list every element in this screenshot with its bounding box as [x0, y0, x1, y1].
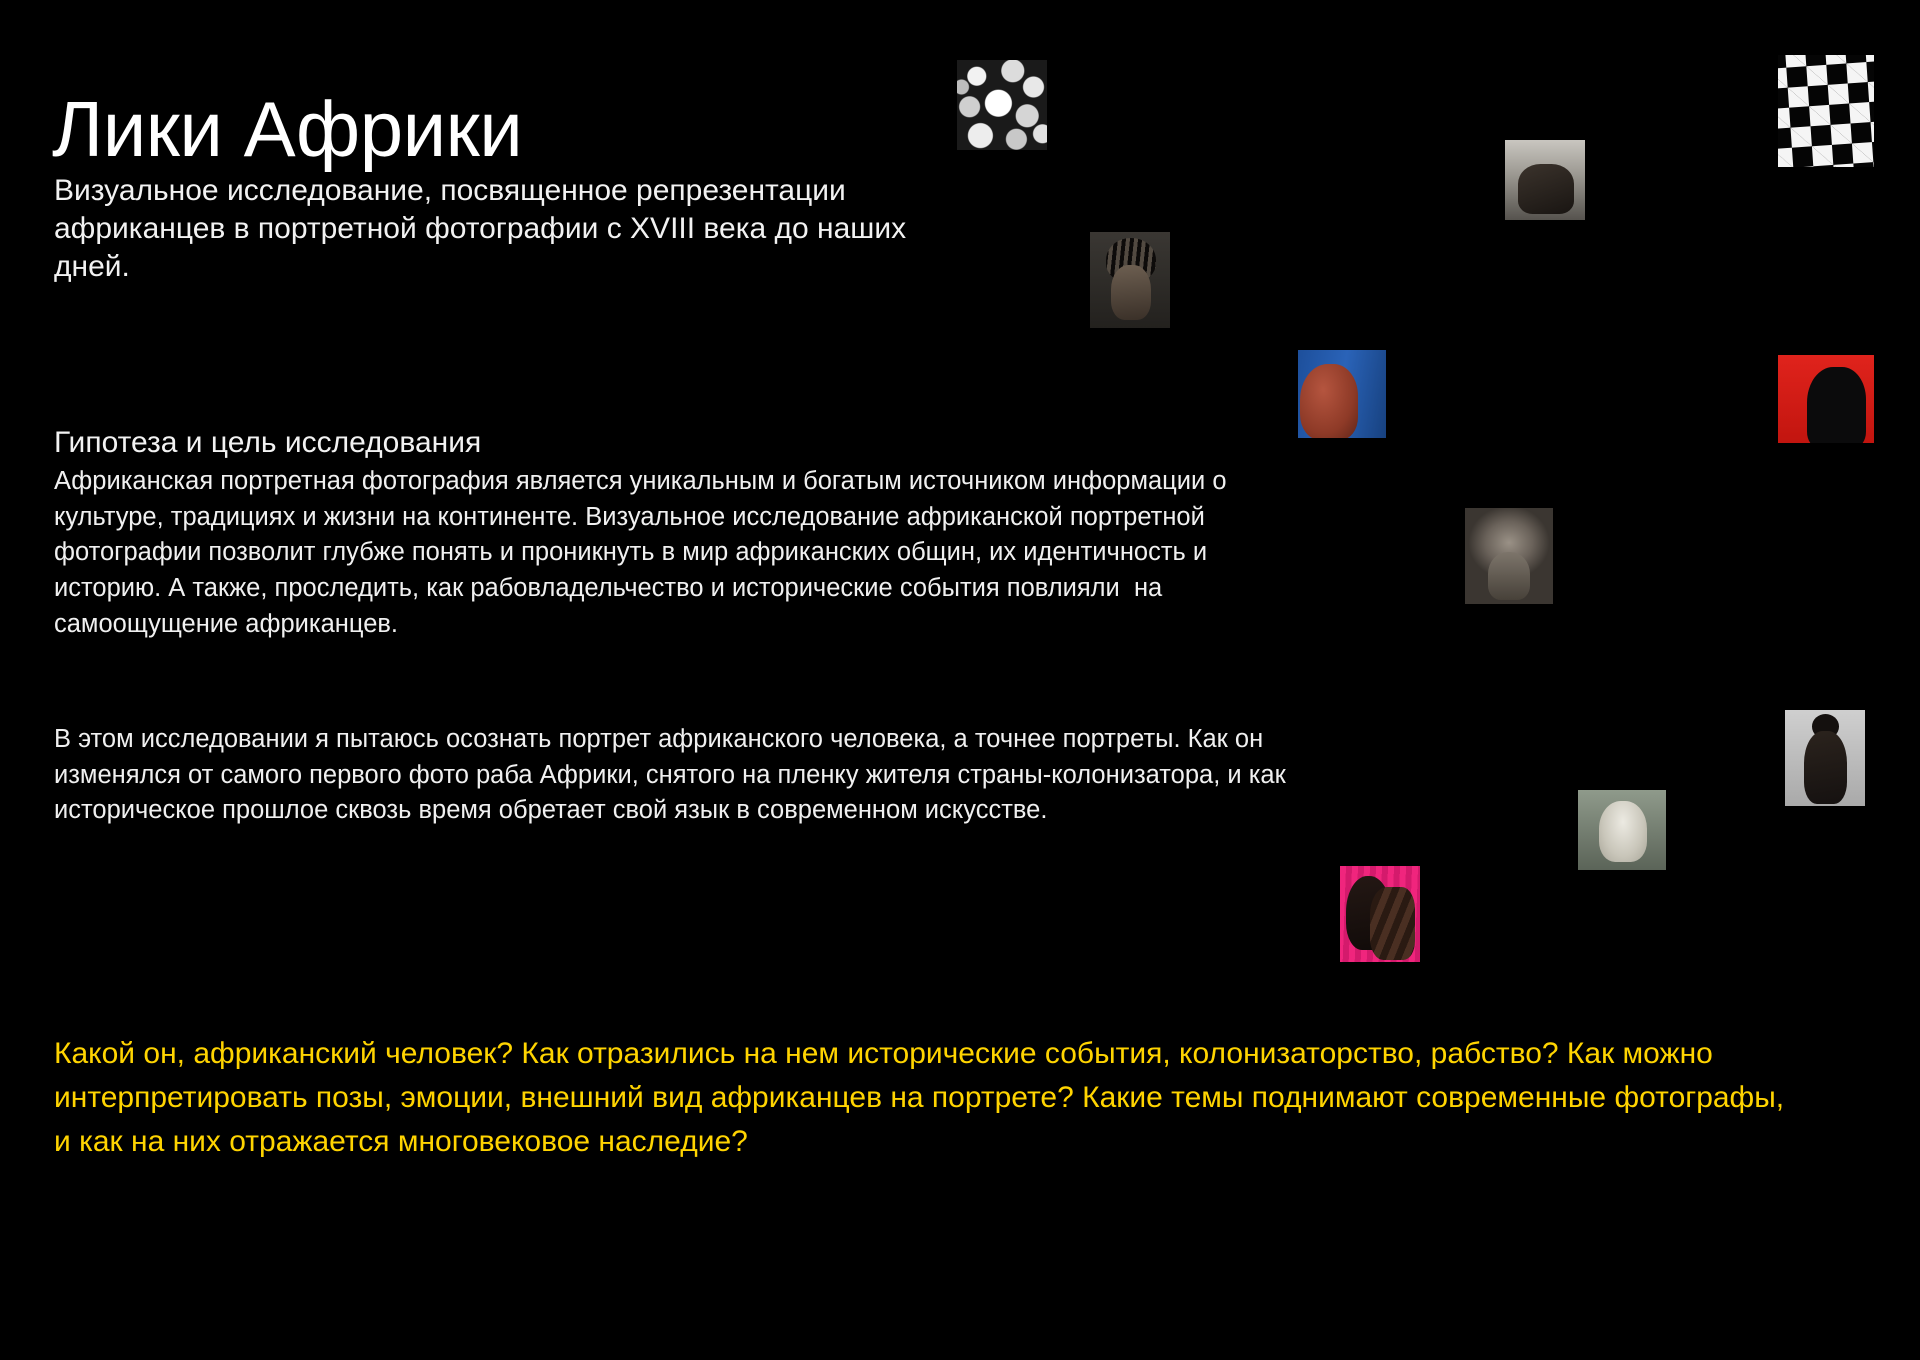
photo-woman-bun [1785, 710, 1865, 806]
photo-braided-woman [1090, 232, 1170, 328]
photo-hands-grayscale-image [1505, 140, 1585, 220]
photo-man-red-blue [1298, 350, 1386, 438]
photo-floral-pattern-image [957, 60, 1047, 150]
photo-floral-pattern [957, 60, 1047, 150]
photo-portrait-headwrap-image [1465, 508, 1553, 604]
photo-white-painted-face [1578, 790, 1666, 870]
photo-man-red-blue-image [1298, 350, 1386, 438]
photo-checkered-pattern-image [1778, 55, 1874, 167]
body-paragraph-1: Африканская портретная фотография являет… [54, 464, 1294, 642]
body-paragraph-2-container: В этом исследовании я пытаюсь осознать п… [54, 722, 1294, 829]
slide-canvas: Лики Африки Визуальное исследование, пос… [0, 0, 1920, 1360]
photo-red-silhouette-image [1778, 355, 1874, 443]
page-title: Лики Африки [52, 90, 522, 170]
photo-checkered-pattern [1778, 55, 1874, 167]
slide-subtitle: Визуальное исследование, посвященное реп… [54, 172, 914, 286]
photo-braided-woman-image [1090, 232, 1170, 328]
photo-hands-pink [1340, 866, 1420, 962]
photo-portrait-headwrap [1465, 508, 1553, 604]
research-question-text: Какой он, африканский человек? Как отраз… [54, 1032, 1794, 1163]
section-heading-hypothesis: Гипотеза и цель исследования [54, 425, 481, 461]
photo-hands-pink-image [1340, 866, 1420, 962]
photo-hands-grayscale [1505, 140, 1585, 220]
photo-white-painted-face-image [1578, 790, 1666, 870]
photo-red-silhouette [1778, 355, 1874, 443]
body-paragraph-1-container: Африканская портретная фотография являет… [54, 464, 1294, 642]
body-paragraph-2: В этом исследовании я пытаюсь осознать п… [54, 722, 1294, 829]
photo-woman-bun-image [1785, 710, 1865, 806]
